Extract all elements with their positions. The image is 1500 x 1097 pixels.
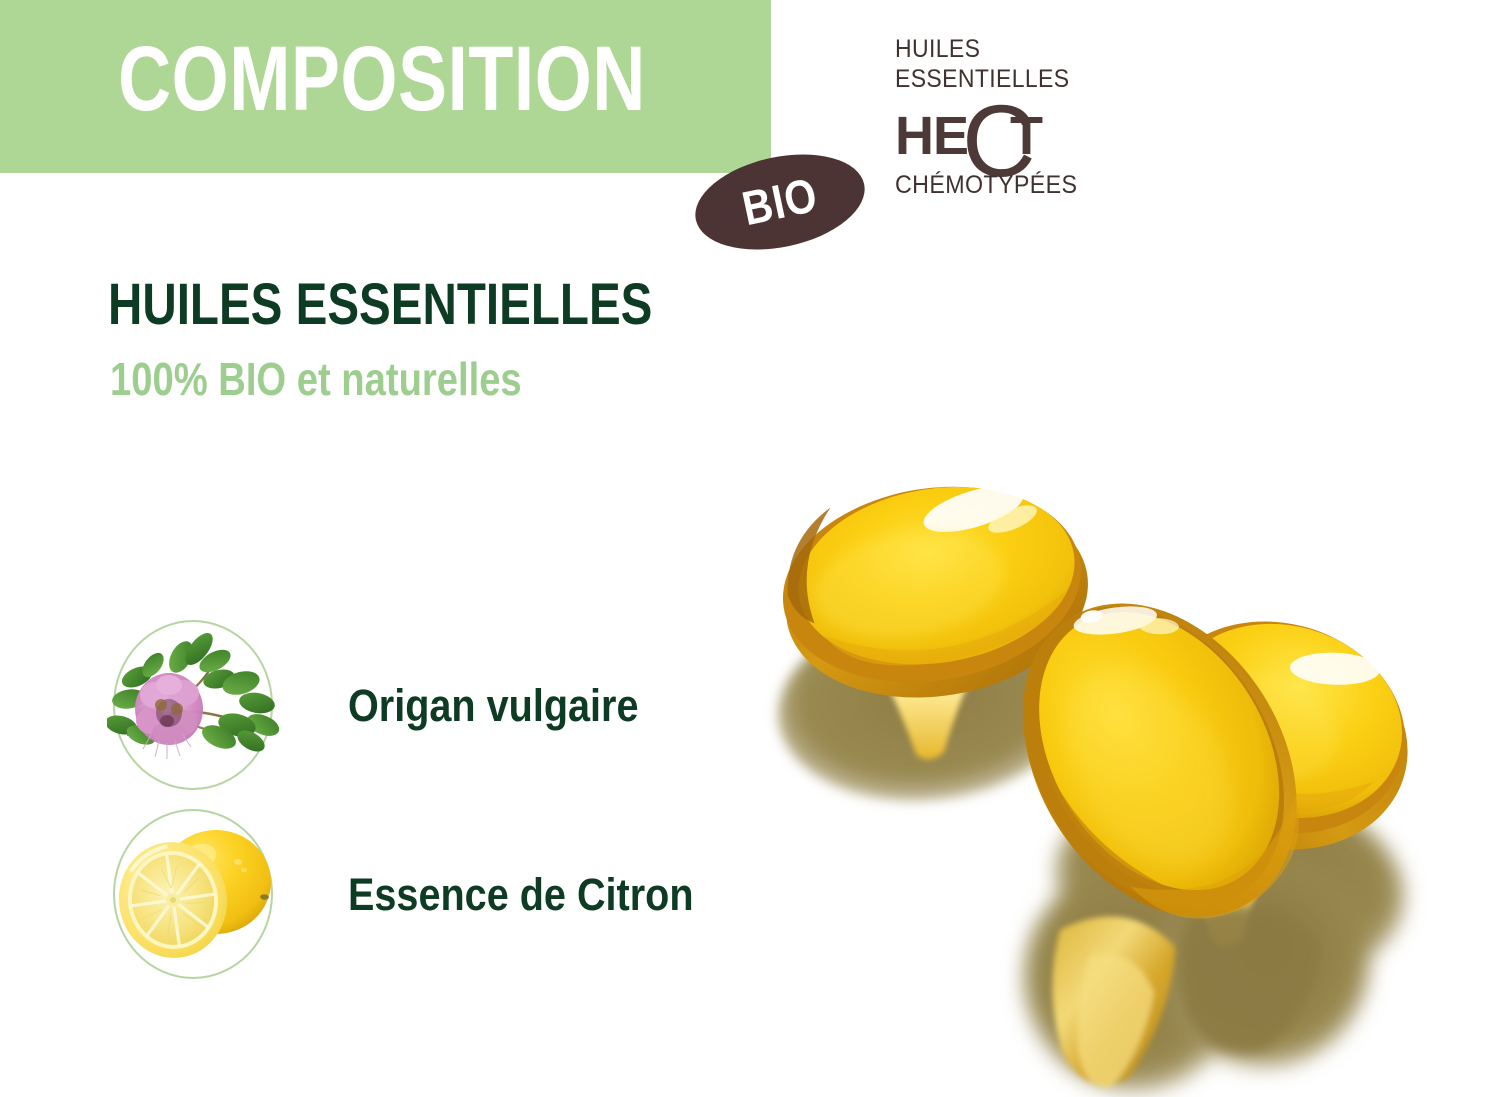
hect-logo-subtitle: CHÉMOTYPÉES (895, 171, 1090, 199)
capsules-artwork (760, 460, 1500, 1097)
hect-wordmark: HE C T (895, 97, 1105, 169)
composition-infographic: COMPOSITION BIO HUILES ESSENTIELLES HE C… (0, 0, 1500, 1097)
hect-wordmark-t: T (1010, 109, 1043, 163)
list-item: Origan vulgaire (107, 617, 678, 794)
section-subheading: 100% BIO et naturelles (110, 356, 522, 402)
page-title: COMPOSITION (118, 33, 646, 125)
product-photo-capsules (760, 460, 1500, 1097)
list-item-label: Essence de Citron (348, 872, 694, 917)
oregano-sprig-icon (107, 617, 284, 794)
hect-wordmark-he: HE (895, 109, 968, 163)
list-item: Essence de Citron (107, 806, 741, 983)
section-heading: HUILES ESSENTIELLES (108, 276, 652, 334)
list-item-label: Origan vulgaire (348, 683, 638, 728)
header-banner: COMPOSITION (0, 0, 771, 173)
hect-logo: HUILES ESSENTIELLES HE C T CHÉMOTYPÉES (895, 34, 1105, 199)
hect-logo-line1: HUILES (895, 34, 1088, 64)
lemon-artwork (111, 810, 283, 982)
lemon-icon (107, 806, 284, 983)
oregano-artwork (107, 617, 284, 794)
